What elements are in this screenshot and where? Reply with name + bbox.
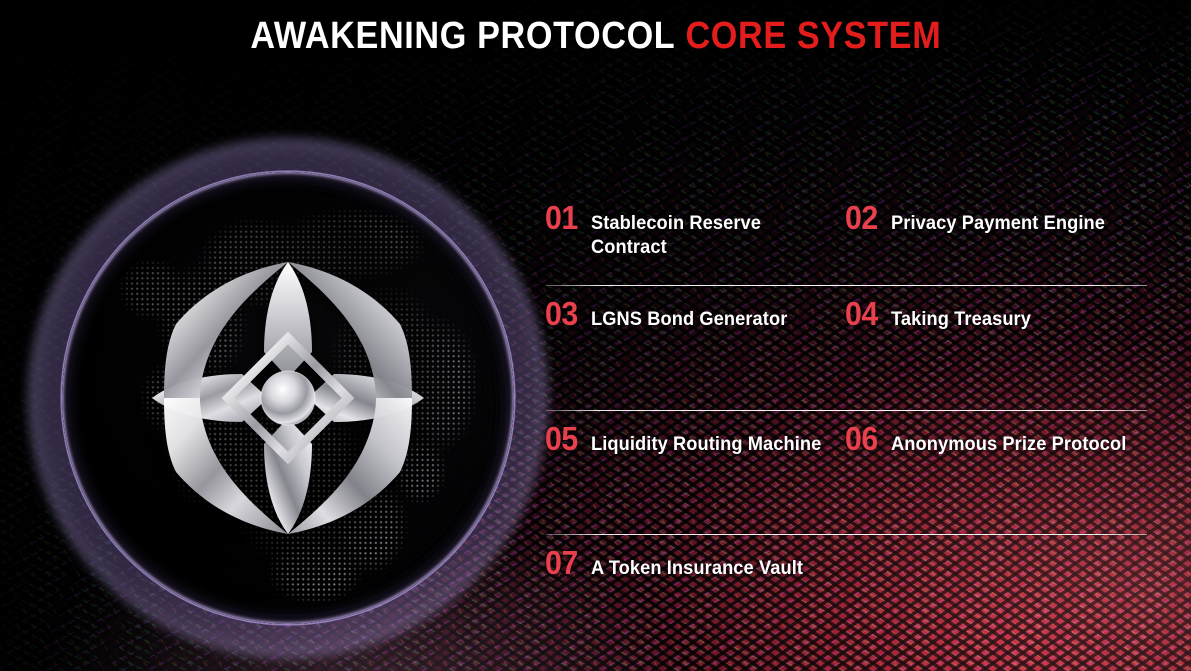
feature-item-06[interactable]: 06 Anonymous Prize Protocol [845, 411, 1147, 457]
feature-row: 05 Liquidity Routing Machine 06 Anonymou… [545, 411, 1147, 535]
feature-number: 06 [845, 422, 887, 455]
feature-row: 01 Stablecoin Reserve Contract 02 Privac… [545, 190, 1147, 286]
feature-number: 01 [545, 201, 587, 234]
feature-row: 07 A Token Insurance Vault [545, 535, 1147, 615]
page-title: AWAKENING PROTOCOL CORE SYSTEM [0, 16, 1191, 58]
feature-item-01[interactable]: 01 Stablecoin Reserve Contract [545, 190, 845, 261]
feature-list: 01 Stablecoin Reserve Contract 02 Privac… [545, 190, 1147, 615]
feature-label: Anonymous Prize Protocol [891, 433, 1126, 457]
page-title-accent: CORE SYSTEM [685, 15, 941, 57]
feature-item-03[interactable]: 03 LGNS Bond Generator [545, 286, 845, 332]
feature-label: Privacy Payment Engine [891, 212, 1105, 236]
page-title-primary: AWAKENING PROTOCOL [250, 15, 675, 57]
feature-row: 03 LGNS Bond Generator 04 Taking Treasur… [545, 286, 1147, 411]
feature-item-05[interactable]: 05 Liquidity Routing Machine [545, 411, 845, 457]
globe-graphic [62, 172, 514, 624]
feature-label: Taking Treasury [891, 308, 1031, 332]
feature-number: 04 [845, 297, 887, 330]
feature-number: 03 [545, 297, 587, 330]
feature-label: Stablecoin Reserve Contract [591, 212, 835, 261]
feature-label: LGNS Bond Generator [591, 308, 787, 332]
feature-label: Liquidity Routing Machine [591, 433, 821, 457]
feature-item-02[interactable]: 02 Privacy Payment Engine [845, 190, 1147, 236]
feature-item-07[interactable]: 07 A Token Insurance Vault [545, 535, 845, 581]
feature-number: 02 [845, 201, 887, 234]
feature-number: 05 [545, 422, 587, 455]
feature-item-04[interactable]: 04 Taking Treasury [845, 286, 1147, 332]
feature-label: A Token Insurance Vault [591, 557, 803, 581]
four-point-star-compass-emblem [118, 228, 458, 568]
slide-canvas: AWAKENING PROTOCOL CORE SYSTEM [0, 0, 1191, 671]
feature-number: 07 [545, 546, 587, 579]
